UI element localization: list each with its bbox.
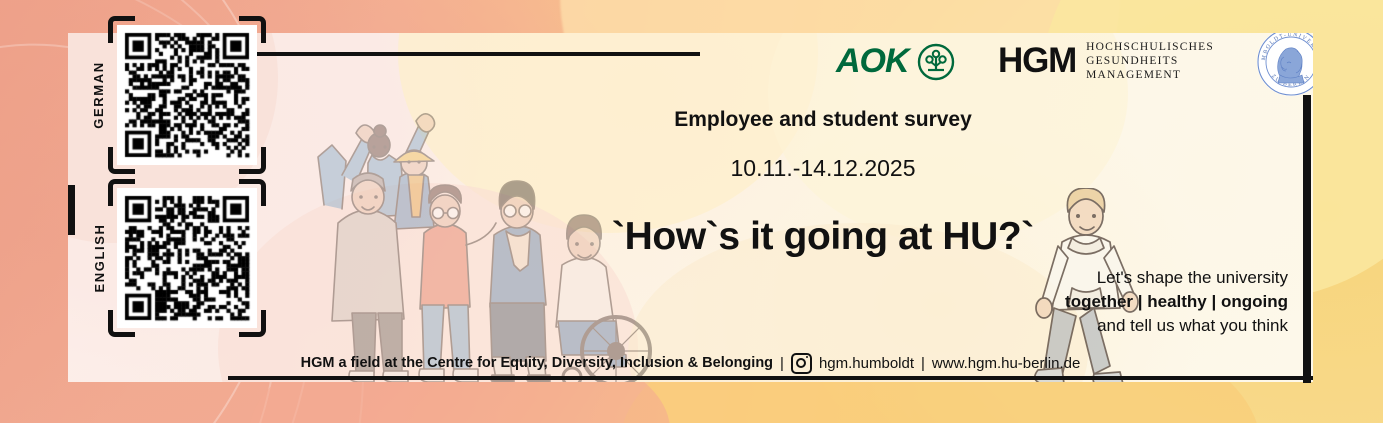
aok-logo: AOK bbox=[836, 42, 955, 81]
survey-headline: `How`s it going at HU?` bbox=[498, 215, 1148, 259]
logo-row: AOK HGM HOCHSCHULISCHES GESUNDHEITS MANA… bbox=[68, 33, 1313, 103]
right-accent-bar bbox=[1303, 95, 1311, 383]
footer-separator: | bbox=[780, 355, 784, 372]
survey-banner: AOK HGM HOCHSCHULISCHES GESUNDHEITS MANA… bbox=[0, 0, 1383, 423]
footer-org-text: HGM a field at the Centre for Equity, Di… bbox=[301, 355, 773, 371]
qr-image-english[interactable] bbox=[117, 188, 257, 328]
tagline-line-1: Let's shape the university bbox=[1018, 266, 1288, 290]
footer-bar: HGM a field at the Centre for Equity, Di… bbox=[68, 350, 1313, 376]
bottom-rule bbox=[228, 376, 1313, 380]
instagram-icon[interactable] bbox=[791, 353, 812, 374]
survey-date-range: 10.11.-14.12.2025 bbox=[613, 155, 1033, 182]
aok-wordmark: AOK bbox=[836, 42, 909, 81]
footer-separator: | bbox=[921, 355, 925, 372]
aok-plant-emblem-icon bbox=[917, 43, 955, 81]
humboldt-university-seal-icon: HUMBOLDT-UNIVERSITÄT ZU BERLIN bbox=[1256, 33, 1313, 97]
hgm-subtitle: HOCHSCHULISCHES GESUNDHEITS MANAGEMENT bbox=[1086, 40, 1214, 82]
hgm-logo: HGM HOCHSCHULISCHES GESUNDHEITS MANAGEME… bbox=[998, 40, 1214, 82]
hgm-subtitle-line-3: MANAGEMENT bbox=[1086, 68, 1214, 82]
footer-instagram-handle[interactable]: hgm.humboldt bbox=[819, 355, 914, 372]
tagline-line-2: together | healthy | ongoing bbox=[1018, 290, 1288, 314]
qr-code-english[interactable]: ENGLISH bbox=[117, 188, 257, 328]
qr-language-label-english: ENGLISH bbox=[92, 224, 107, 293]
tagline-line-3: and tell us what you think bbox=[1018, 314, 1288, 338]
footer-website-link[interactable]: www.hgm.hu-berlin.de bbox=[932, 355, 1080, 372]
hgm-subtitle-line-2: GESUNDHEITS bbox=[1086, 54, 1214, 68]
hgm-wordmark: HGM bbox=[998, 41, 1076, 81]
survey-subtitle: Employee and student survey bbox=[613, 108, 1033, 132]
tagline-block: Let's shape the university together | he… bbox=[1018, 266, 1288, 338]
hgm-subtitle-line-1: HOCHSCHULISCHES bbox=[1086, 40, 1214, 54]
